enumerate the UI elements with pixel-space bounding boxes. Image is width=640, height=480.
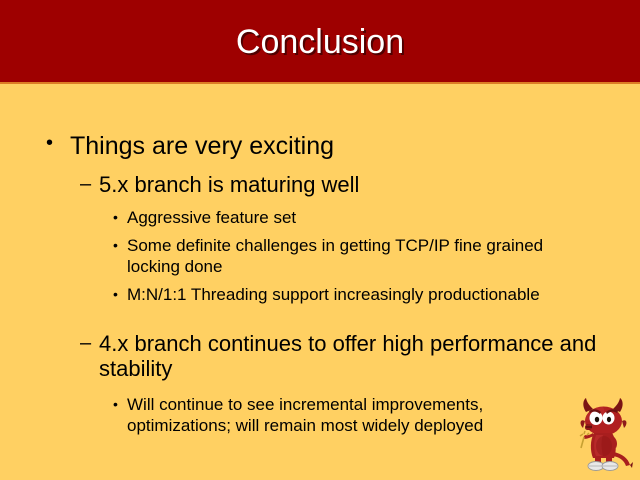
bullet-marker-icon: •: [46, 132, 70, 154]
outline-item-level1: • Things are very exciting: [46, 132, 606, 160]
outline-item-text: Things are very exciting: [70, 132, 606, 160]
slide-body: • Things are very exciting – 5.x branch …: [0, 84, 640, 480]
outline-item-text: 5.x branch is maturing well: [99, 173, 610, 198]
outline-item-text: Some definite challenges in getting TCP/…: [127, 236, 583, 277]
outline-item-text: M:N/1:1 Threading support increasingly p…: [127, 285, 583, 306]
dash-marker-icon: –: [80, 332, 99, 354]
outline-item-text: Aggressive feature set: [127, 208, 583, 229]
outline-item-level3: • Some definite challenges in getting TC…: [113, 236, 583, 277]
outline-item-level3: • M:N/1:1 Threading support increasingly…: [113, 285, 583, 306]
dash-marker-icon: –: [80, 173, 99, 195]
bullet-marker-icon: •: [113, 236, 127, 254]
outline-item-level2: – 4.x branch continues to offer high per…: [80, 332, 610, 381]
outline-item-text: 4.x branch continues to offer high perfo…: [99, 332, 610, 381]
slide-title: Conclusion: [0, 0, 640, 84]
slide-title-bar: Conclusion: [0, 0, 640, 84]
bullet-marker-icon: •: [113, 285, 127, 303]
bsd-daemon-icon: [576, 396, 634, 472]
outline-item-text: Will continue to see incremental improve…: [127, 395, 583, 436]
outline-item-level3: • Will continue to see incremental impro…: [113, 395, 583, 436]
outline-item-level3: • Aggressive feature set: [113, 208, 583, 229]
presentation-slide: Conclusion • Things are very exciting – …: [0, 0, 640, 480]
bullet-marker-icon: •: [113, 208, 127, 226]
outline-item-level2: – 5.x branch is maturing well: [80, 173, 610, 198]
bullet-marker-icon: •: [113, 395, 127, 413]
